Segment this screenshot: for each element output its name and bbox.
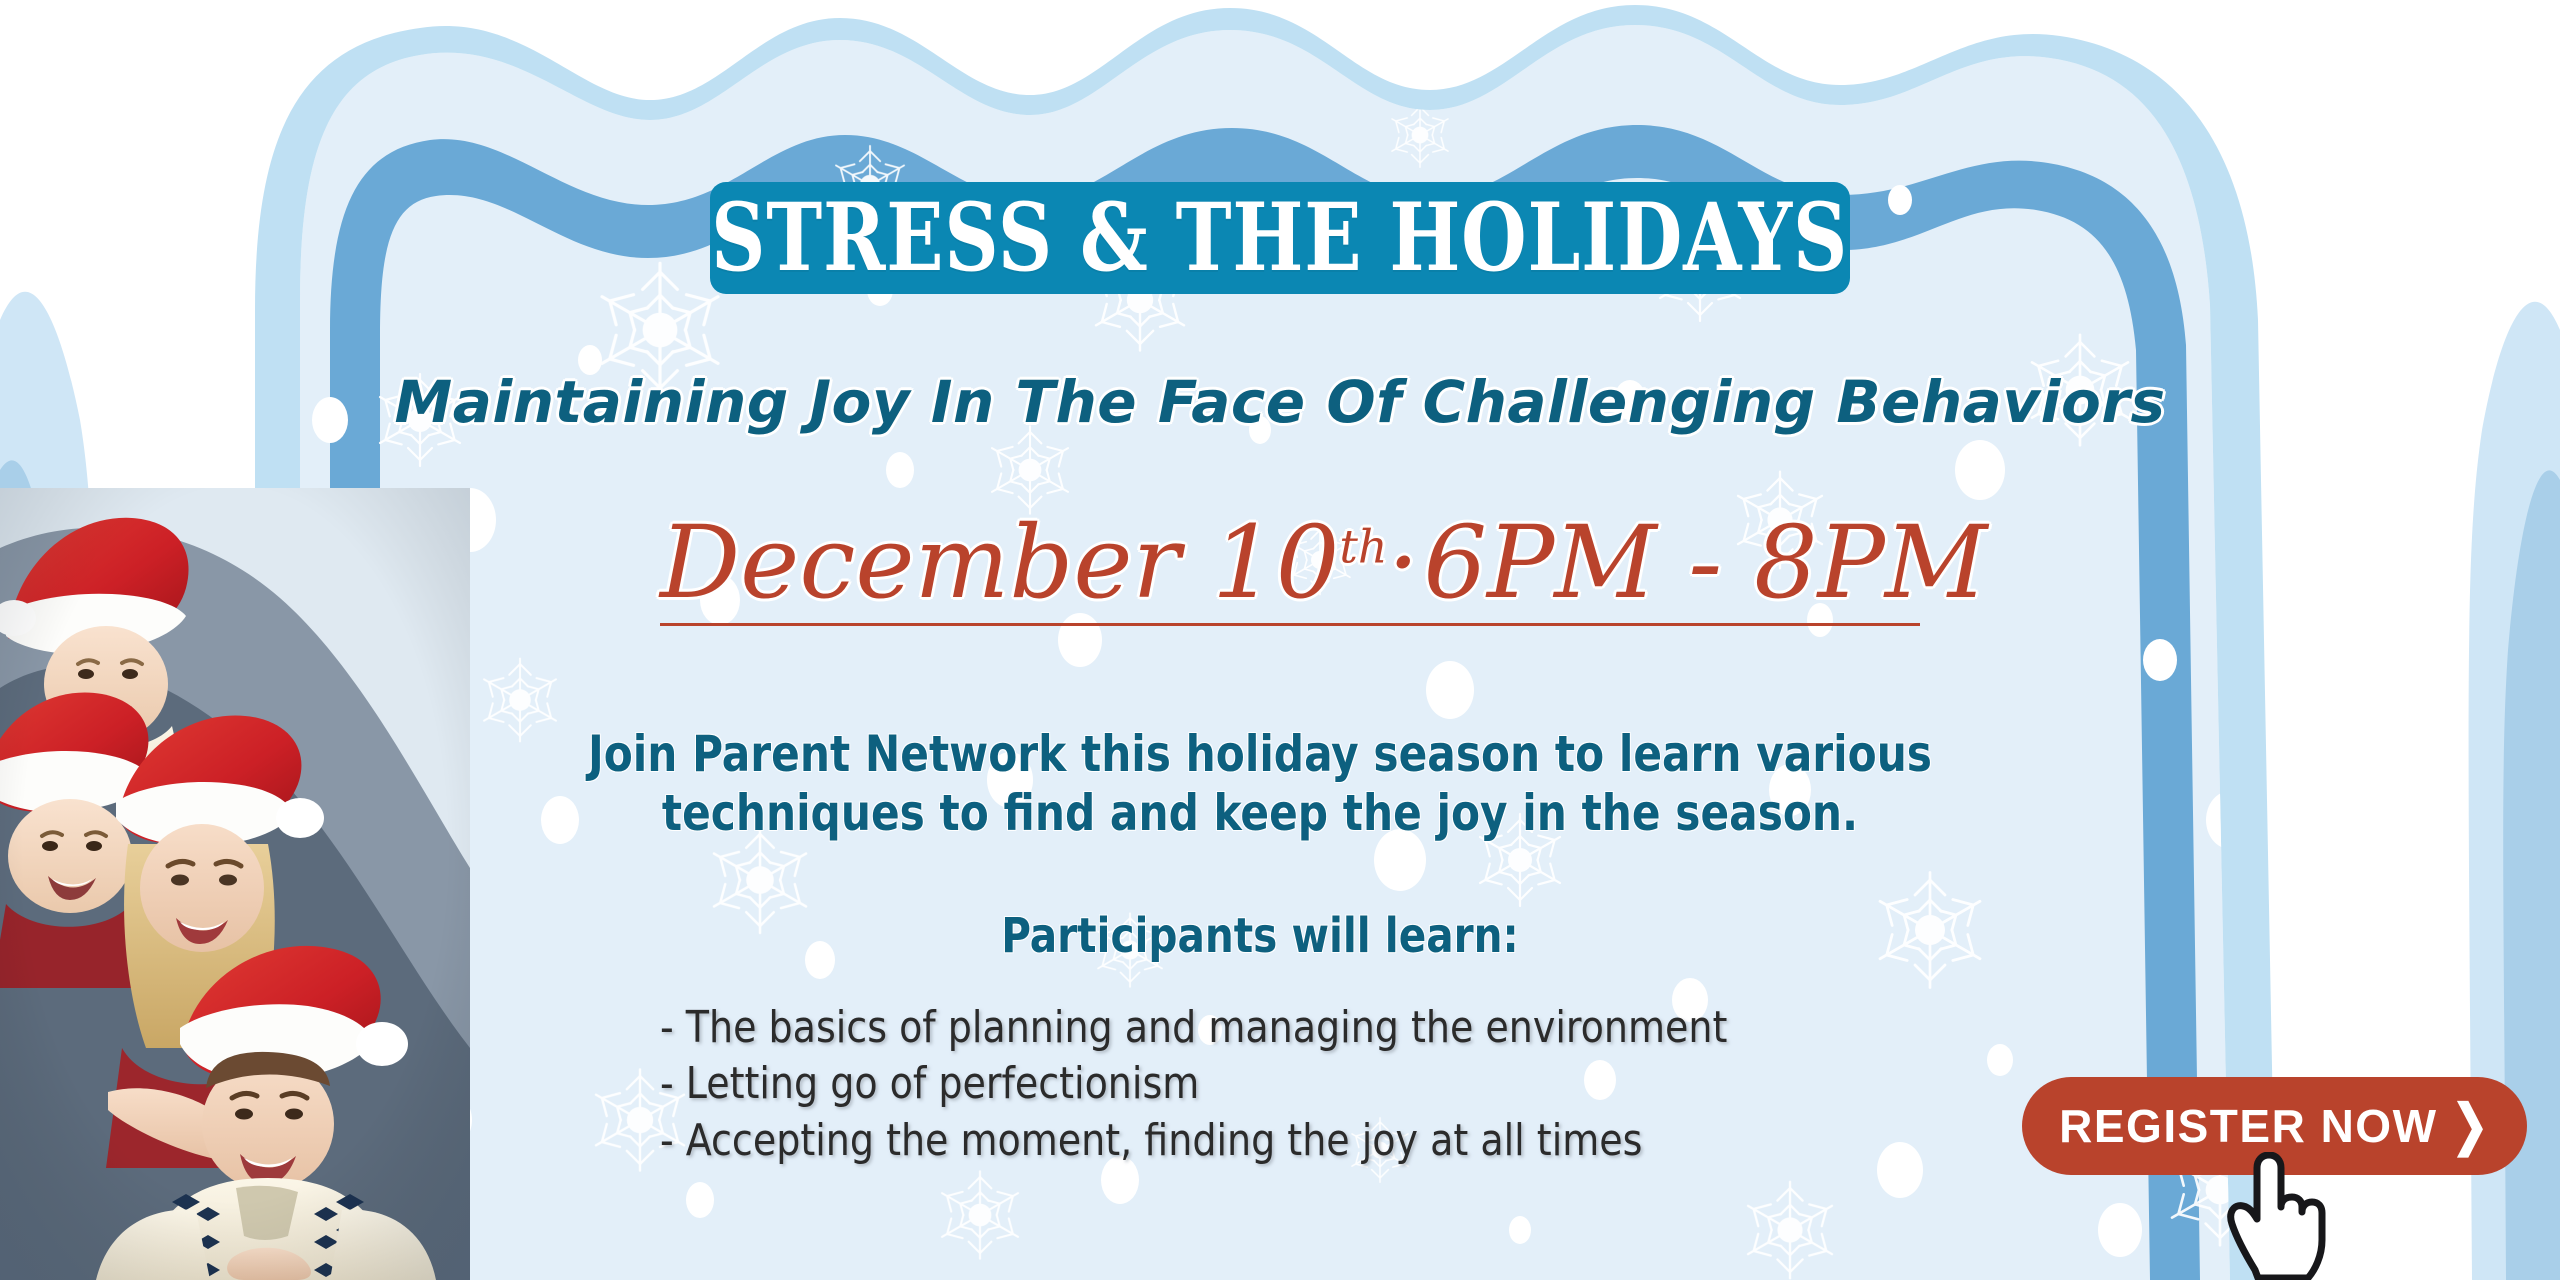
list-item: - The basics of planning and managing th…	[660, 1000, 1946, 1056]
datetime-separator: ·	[1388, 504, 1424, 621]
event-datetime: December 10th·6PM - 8PM	[660, 510, 1920, 626]
event-time-range: 6PM - 8PM	[1423, 504, 1987, 621]
list-item: - Letting go of perfectionism	[660, 1056, 1946, 1112]
event-date: December 10	[660, 504, 1339, 621]
title-banner: STRESS & THE HOLIDAYS	[710, 182, 1850, 294]
list-item: - Accepting the moment, finding the joy …	[660, 1113, 1946, 1169]
learn-heading: Participants will learn:	[480, 908, 2040, 964]
date-underline-rule	[660, 623, 1920, 626]
event-date-ordinal: th	[1339, 520, 1387, 574]
holiday-event-banner: STRESS & THE HOLIDAYS Maintaining Joy In…	[0, 0, 2560, 1280]
family-photo-illustration	[0, 488, 470, 1280]
subtitle: Maintaining Joy In The Face Of Challengi…	[0, 368, 2560, 436]
intro-paragraph: Join Parent Network this holiday season …	[480, 725, 2040, 843]
chevron-right-icon: ❯	[2451, 1099, 2489, 1154]
learn-list: - The basics of planning and managing th…	[660, 1000, 2000, 1169]
register-now-button[interactable]: REGISTER NOW ❯	[2022, 1077, 2527, 1175]
page-title: STRESS & THE HOLIDAYS	[711, 191, 1848, 285]
event-datetime-text: December 10th·6PM - 8PM	[660, 510, 1920, 615]
family-photo	[0, 488, 470, 1280]
register-now-label: REGISTER NOW	[2059, 1099, 2437, 1153]
